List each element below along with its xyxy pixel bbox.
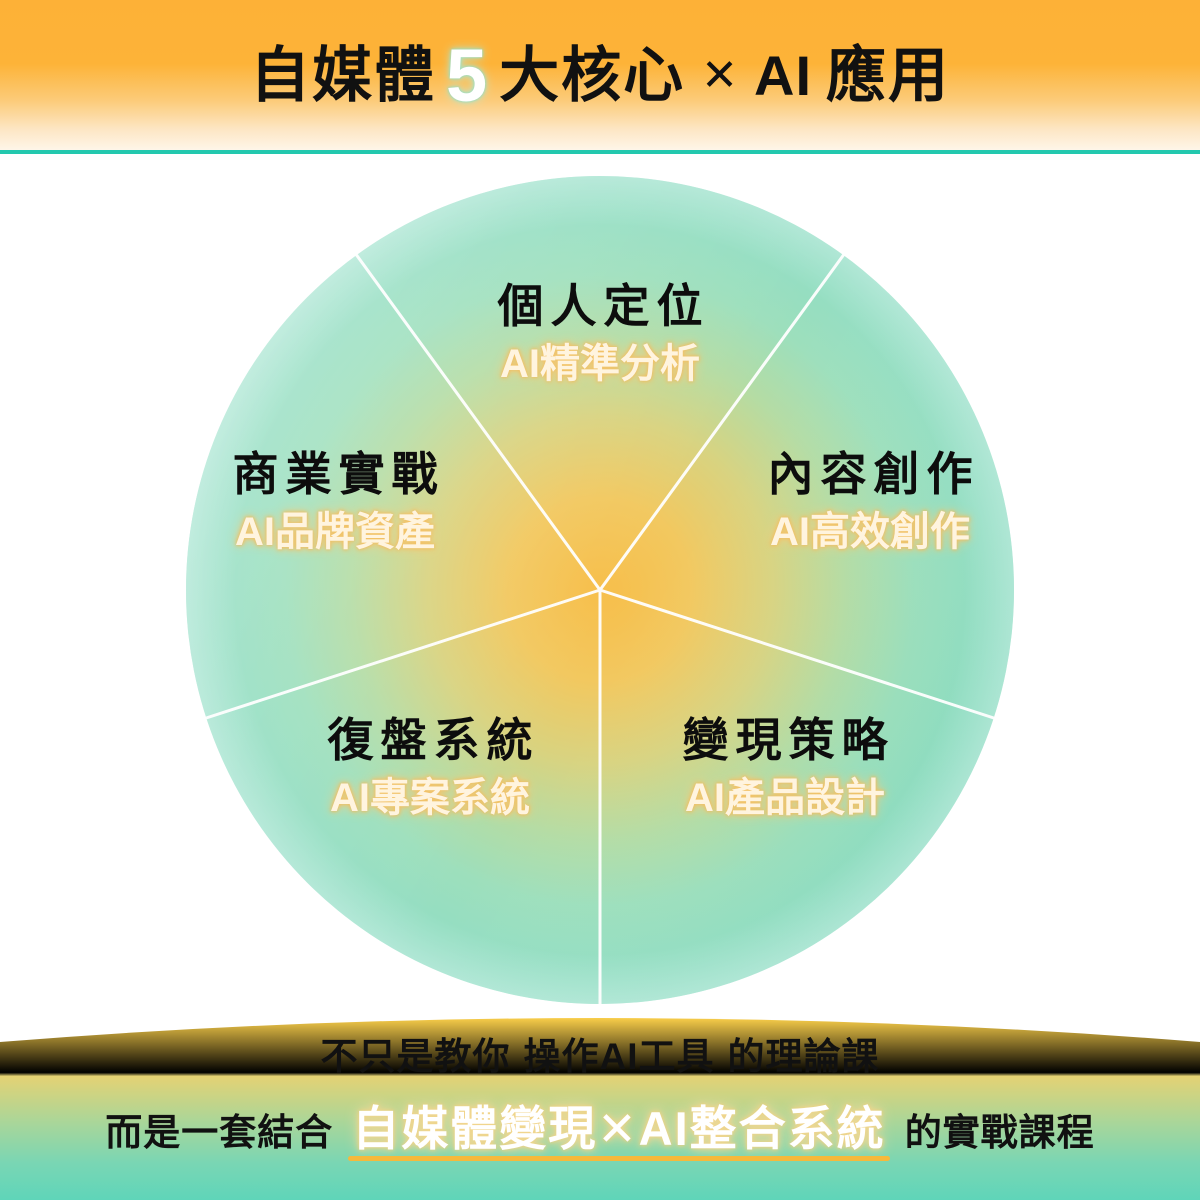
footer-line1-emphasis: 操作AI工具 bbox=[524, 1038, 715, 1075]
title-part-2: 大核心 bbox=[499, 46, 685, 106]
footer-highlight-underline bbox=[348, 1156, 889, 1161]
footer-line2-part2: 的實戰課程 bbox=[905, 1114, 1095, 1151]
pie-slice-label-content-creation[interactable]: 內容創作 AI高效創作 bbox=[690, 448, 1050, 555]
title-part-3: 應用 bbox=[826, 46, 950, 106]
footer-banner: 不只是教你 操作AI工具 的理論課 而是一套結合 自媒體變現✕AI整合系統 的實… bbox=[0, 1000, 1200, 1200]
footer-line1-part1: 不只是教你 bbox=[321, 1038, 511, 1075]
footer-line2-part1: 而是一套結合 bbox=[105, 1114, 333, 1151]
pie-wheel-area: 個人定位 AI精準分析 內容創作 AI高效創作 變現策略 AI產品設計 復盤系統… bbox=[0, 152, 1200, 1030]
slice-subtitle: AI品牌資產 bbox=[155, 509, 515, 555]
footer-line-2: 而是一套結合 自媒體變現✕AI整合系統 的實戰課程 bbox=[105, 1105, 1094, 1161]
slice-title: 個人定位 bbox=[395, 280, 805, 333]
footer-text-block: 不只是教你 操作AI工具 的理論課 而是一套結合 自媒體變現✕AI整合系統 的實… bbox=[0, 1000, 1200, 1200]
infographic-canvas: 自媒體 5 大核心 ✕ AI 應用 bbox=[0, 0, 1200, 1200]
slice-subtitle: AI精準分析 bbox=[395, 341, 805, 387]
page-title: 自媒體 5 大核心 ✕ AI 應用 bbox=[0, 0, 1200, 152]
slice-title: 復盤系統 bbox=[265, 714, 595, 767]
pie-slice-label-business-practice[interactable]: 商業實戰 AI品牌資產 bbox=[155, 448, 515, 555]
title-part-1: 自媒體 bbox=[250, 46, 436, 106]
slice-subtitle: AI產品設計 bbox=[620, 775, 950, 821]
pie-slice-label-personal-positioning[interactable]: 個人定位 AI精準分析 bbox=[395, 280, 805, 387]
footer-line1-part2: 的理論課 bbox=[728, 1038, 880, 1075]
title-cross-icon: ✕ bbox=[701, 54, 738, 98]
footer-highlight-text: 自媒體變現✕AI整合系統 bbox=[352, 1102, 885, 1155]
slice-title: 變現策略 bbox=[620, 714, 950, 767]
slice-title: 內容創作 bbox=[690, 448, 1050, 501]
pie-slice-label-review-system[interactable]: 復盤系統 AI專案系統 bbox=[265, 714, 595, 821]
footer-highlight-phrase: 自媒體變現✕AI整合系統 bbox=[346, 1105, 891, 1161]
slice-subtitle: AI高效創作 bbox=[690, 509, 1050, 555]
title-number-5: 5 bbox=[446, 39, 487, 113]
title-ai-label: AI bbox=[754, 48, 812, 104]
slice-title: 商業實戰 bbox=[155, 448, 515, 501]
pie-slice-label-monetization-strategy[interactable]: 變現策略 AI產品設計 bbox=[620, 714, 950, 821]
footer-line-1: 不只是教你 操作AI工具 的理論課 bbox=[321, 1038, 880, 1075]
slice-subtitle: AI專案系統 bbox=[265, 775, 595, 821]
